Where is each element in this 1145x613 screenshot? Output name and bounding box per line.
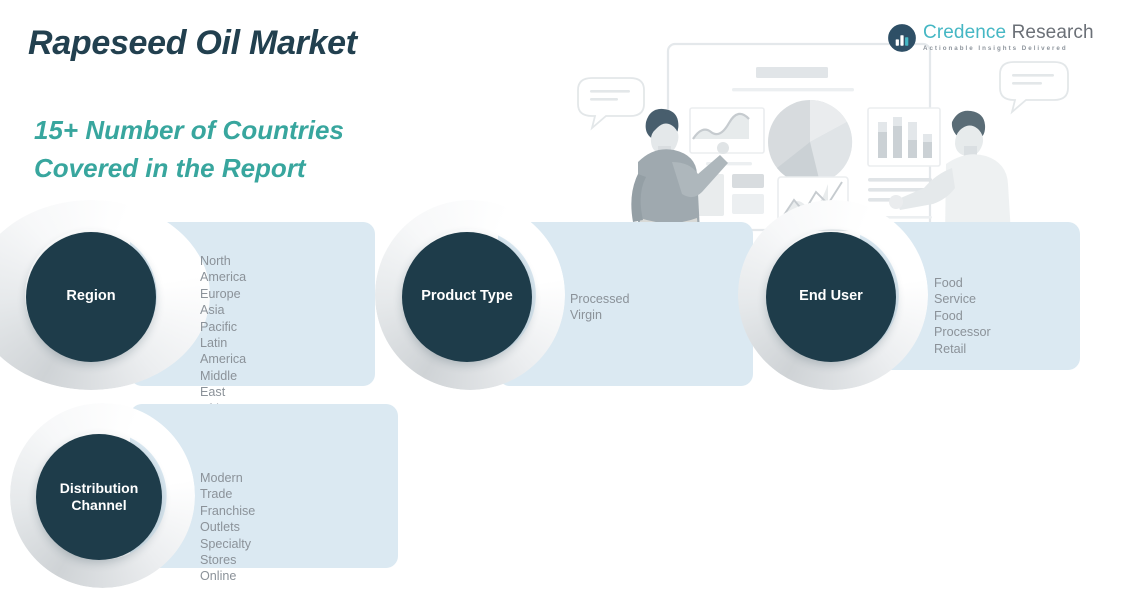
brand-logo: Credence Research Actionable Insights De… <box>888 23 1094 52</box>
page-title: Rapeseed Oil Market <box>28 24 357 63</box>
items-product-type: Processed Virgin <box>570 291 630 324</box>
disc-label-product-type: Product Type <box>402 232 532 362</box>
logo-tagline: Actionable Insights Delivered <box>923 46 1094 52</box>
logo-name: Credence Research <box>923 23 1094 42</box>
page-subtitle: 15+ Number of Countries Covered in the R… <box>34 111 344 188</box>
logo-name-research: Research <box>1012 22 1094 43</box>
logo-text: Credence Research Actionable Insights De… <box>923 23 1094 52</box>
items-distribution-channel: Modern Trade Franchise Outlets Specialty… <box>200 470 255 585</box>
line-chart <box>690 108 764 153</box>
disc-label-end-user: End User <box>766 232 896 362</box>
presentation-board <box>668 44 930 230</box>
items-region: North America Europe Asia Pacific Latin … <box>200 253 246 417</box>
speech-bubble-right <box>1000 62 1068 112</box>
disc-label-distribution-channel: Distribution Channel <box>36 434 162 560</box>
pie-chart <box>768 100 852 184</box>
bar-chart <box>868 108 940 166</box>
logo-name-credence: Credence <box>923 22 1006 43</box>
speech-bubble-left <box>578 78 644 128</box>
bar-chart-circle-icon <box>888 24 916 52</box>
disc-label-region: Region <box>26 232 156 362</box>
items-end-user: Food Service Food Processor Retail <box>934 275 991 357</box>
